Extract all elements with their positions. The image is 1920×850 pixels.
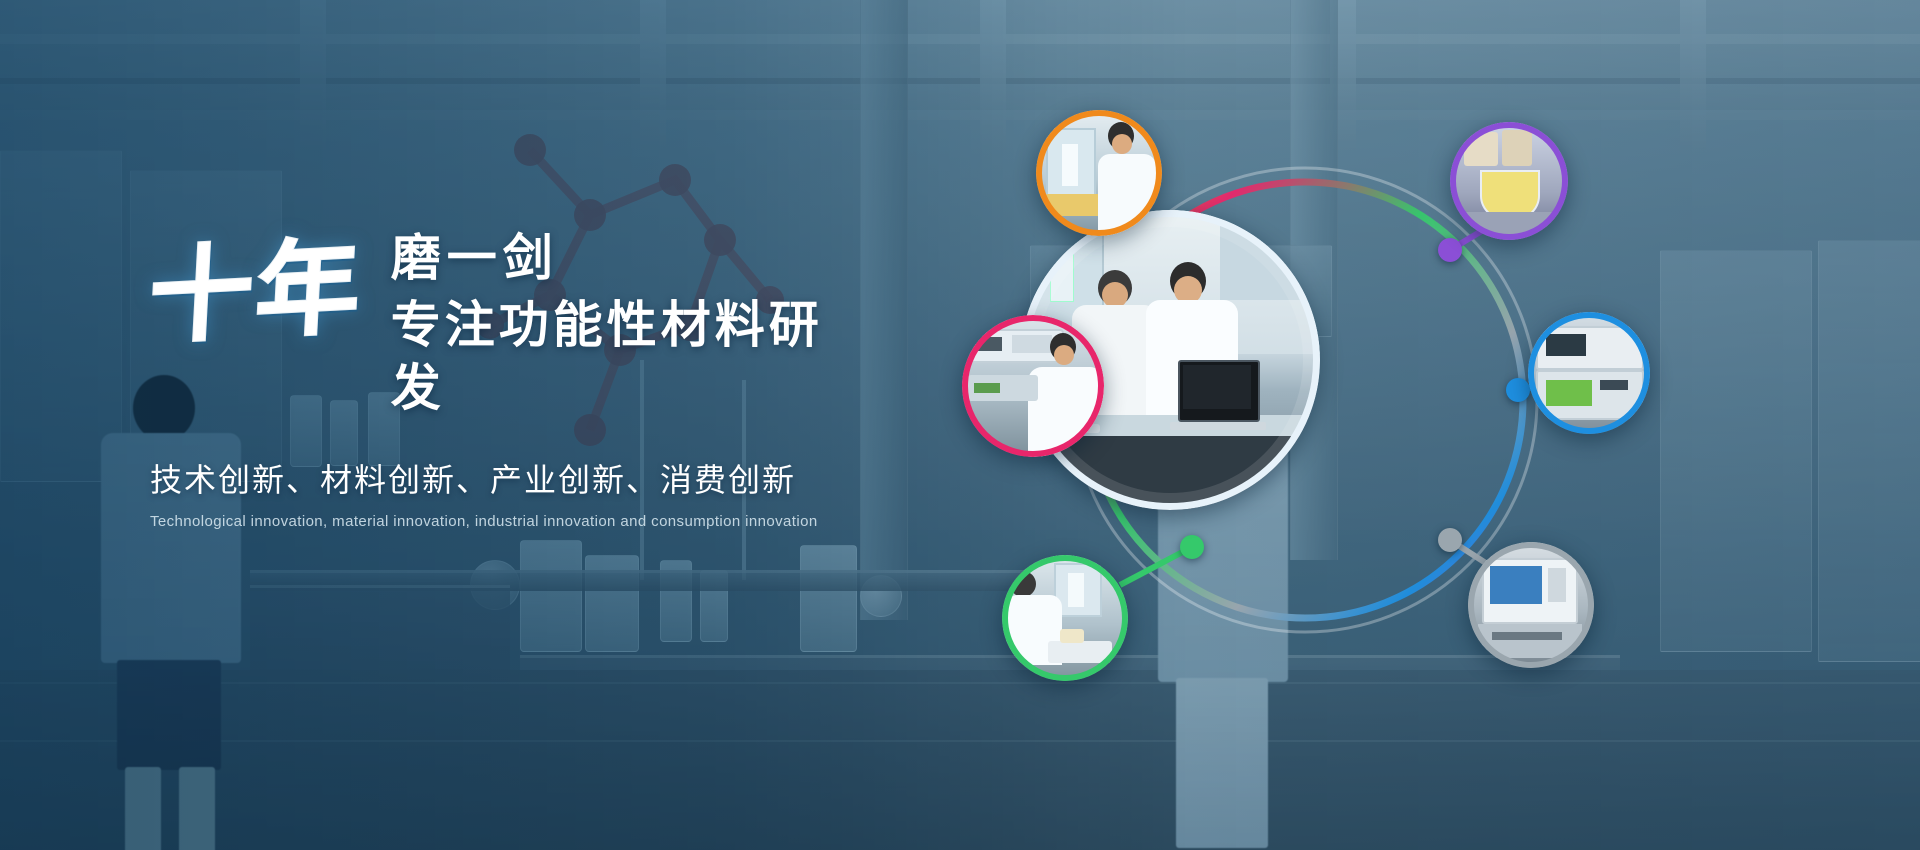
brush-calligraphy: 十年 (150, 217, 377, 347)
subtitle-english: Technological innovation, material innov… (150, 513, 870, 530)
node-border-pink (962, 315, 1104, 457)
hero-banner: 十年 磨一剑 专注功能性材料研发 技术创新、材料创新、产业创新、消费创新 Tec… (0, 0, 1920, 850)
node-border-gray (1468, 542, 1594, 668)
headline-block: 十年 磨一剑 专注功能性材料研发 技术创新、材料创新、产业创新、消费创新 Tec… (150, 225, 870, 530)
connector-dot-gray (1438, 528, 1462, 552)
node-bubble-purple[interactable] (1450, 122, 1568, 240)
headline-line-1: 磨一剑 (391, 231, 870, 286)
headline-lines: 磨一剑 专注功能性材料研发 (391, 225, 870, 419)
connector-dot-purple (1438, 238, 1462, 262)
connector-dot-blue (1506, 378, 1530, 402)
node-border-orange (1036, 110, 1162, 236)
headline-row: 十年 磨一剑 专注功能性材料研发 (150, 225, 870, 419)
node-bubble-orange[interactable] (1036, 110, 1162, 236)
node-border-purple (1450, 122, 1568, 240)
headline-line-2: 专注功能性材料研发 (391, 294, 870, 419)
brush-word: 十年 (146, 202, 367, 364)
circle-composition (980, 100, 1680, 720)
node-bubble-blue[interactable] (1528, 312, 1650, 434)
node-border-blue (1528, 312, 1650, 434)
connector-dot-green (1180, 535, 1204, 559)
node-bubble-pink[interactable] (962, 315, 1104, 457)
node-bubble-gray[interactable] (1468, 542, 1594, 668)
node-border-green (1002, 555, 1128, 681)
subtitle-chinese: 技术创新、材料创新、产业创新、消费创新 (150, 455, 870, 501)
node-bubble-green[interactable] (1002, 555, 1128, 681)
